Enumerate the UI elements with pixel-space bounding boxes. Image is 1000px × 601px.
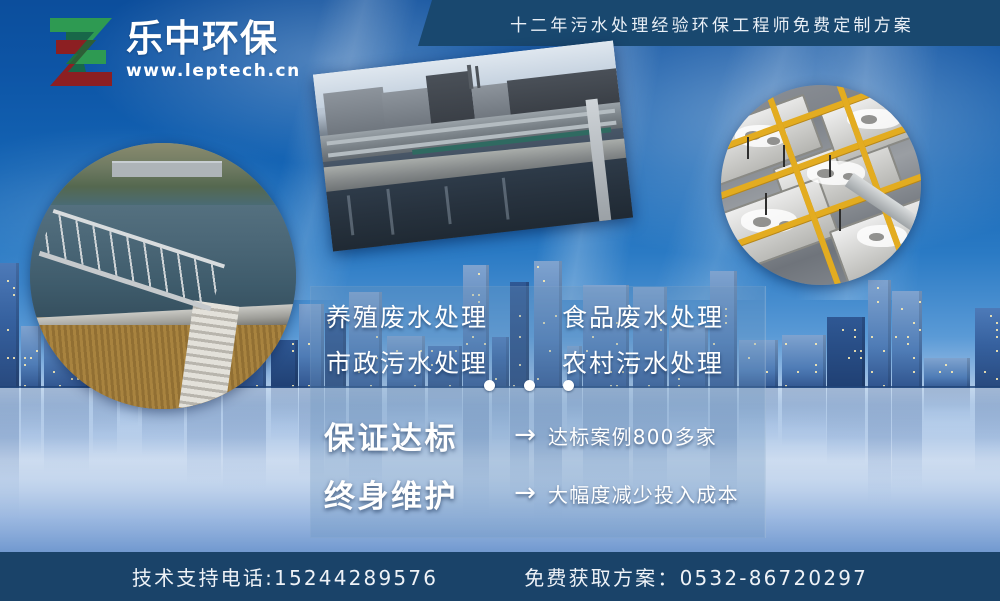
building-window (919, 301, 921, 303)
claim-detail: 达标案例800多家 (548, 421, 717, 450)
plant-scene (313, 40, 633, 251)
building-window (854, 350, 856, 352)
skyline-building (868, 280, 891, 390)
rail-post (839, 209, 841, 231)
skyline-building (892, 291, 922, 390)
separator-dot (524, 380, 535, 391)
aeration-scene (721, 85, 921, 285)
building-window (895, 336, 897, 338)
building-window (815, 371, 817, 373)
skyline-building (782, 335, 826, 390)
sludge-clump (861, 115, 877, 124)
building-window (990, 315, 992, 317)
building-window (919, 329, 921, 331)
separator-dots (484, 378, 574, 392)
rail-post (747, 137, 749, 159)
sludge-clump (817, 169, 834, 178)
building-window (996, 329, 998, 331)
sludge-clump (753, 217, 771, 227)
logo-text-block: 乐中环保 www.leptech.cn (126, 18, 301, 81)
skyline-building (827, 317, 865, 390)
building-window (842, 329, 844, 331)
claim-heading: 终身维护 (324, 471, 502, 516)
sedimentation-basin-walkway-photo (30, 143, 296, 409)
separator-dot (563, 380, 574, 391)
building-window (815, 343, 817, 345)
company-name: 乐中环保 (126, 18, 301, 60)
building-window (907, 336, 909, 338)
building-window (848, 357, 850, 359)
sludge-clump (767, 137, 780, 145)
building-window (24, 364, 26, 366)
building-window (951, 371, 953, 373)
building-window (860, 357, 862, 359)
building-window (996, 350, 998, 352)
building-window (996, 378, 998, 380)
claim-detail: 大幅度减少投入成本 (548, 479, 739, 508)
building-window (13, 357, 15, 359)
storage-tanks (112, 161, 222, 177)
rail-post (829, 155, 831, 177)
building-window (13, 294, 15, 296)
building-window (907, 343, 909, 345)
reflection (502, 178, 510, 220)
building-window (877, 287, 879, 289)
building-window (877, 301, 879, 303)
claims-list: 保证达标 → 达标案例800多家 终身维护 → 大幅度减少投入成本 (324, 406, 764, 522)
footer-bar: 技术支持电话:15244289576 免费获取方案：0532-86720297 (0, 552, 1000, 601)
service-item[interactable]: 食品废水处理 (562, 298, 756, 338)
building-window (797, 371, 799, 373)
building-window (7, 329, 9, 331)
claim-row: 终身维护 → 大幅度减少投入成本 (324, 464, 764, 522)
building-window (913, 357, 915, 359)
sludge-clump (869, 233, 884, 241)
building-window (996, 322, 998, 324)
reflection (444, 186, 451, 224)
skyline-building (0, 263, 19, 390)
header-bar: 十二年污水处理经验环保工程师免费定制方案 (418, 0, 1000, 46)
building-window (854, 329, 856, 331)
building-window (871, 371, 873, 373)
service-item[interactable]: 农村污水处理 (562, 344, 756, 384)
treatment-plant-overview-photo (313, 40, 633, 251)
building-window (913, 322, 915, 324)
basin-scene (30, 143, 296, 409)
building-window (478, 273, 480, 275)
separator-dot (484, 380, 495, 391)
building-window (13, 287, 15, 289)
reflection (347, 195, 355, 235)
building-window (945, 364, 947, 366)
building-window (939, 371, 941, 373)
building-window (766, 371, 768, 373)
company-website: www.leptech.cn (126, 61, 301, 81)
building-window (913, 371, 915, 373)
header-tagline: 十二年污水处理经验环保工程师免费定制方案 (504, 11, 914, 36)
building-window (785, 343, 787, 345)
arrow-right-icon: → (502, 422, 548, 448)
building-window (7, 280, 9, 282)
aeration-tanks-photo (721, 85, 921, 285)
building-window (901, 308, 903, 310)
service-item[interactable]: 养殖废水处理 (326, 298, 562, 338)
building-window (7, 357, 9, 359)
rail-post (765, 193, 767, 215)
building-window (860, 350, 862, 352)
building-window (543, 280, 545, 282)
support-phone[interactable]: 技术支持电话:15244289576 (132, 562, 438, 591)
building-window (815, 364, 817, 366)
claim-heading: 保证达标 (324, 413, 502, 458)
building-window (24, 357, 26, 359)
building-window (984, 371, 986, 373)
reflection (386, 189, 394, 235)
z-logo-mark-icon (46, 16, 116, 88)
services-list: 养殖废水处理 食品废水处理 市政污水处理 农村污水处理 (326, 298, 756, 384)
quote-phone[interactable]: 免费获取方案：0532-86720297 (524, 562, 868, 591)
grass-embankment (30, 325, 296, 409)
building-window (537, 266, 539, 268)
claim-row: 保证达标 → 达标案例800多家 (324, 406, 764, 464)
building-window (883, 350, 885, 352)
arrow-right-icon: → (502, 480, 548, 506)
company-logo[interactable]: 乐中环保 www.leptech.cn (46, 14, 296, 92)
rail-post (783, 145, 785, 167)
building-window (854, 336, 856, 338)
building-window (996, 336, 998, 338)
building-window (871, 336, 873, 338)
promotional-banner: 十二年污水处理经验环保工程师免费定制方案 乐中环保 www.leptech.cn (0, 0, 1000, 601)
